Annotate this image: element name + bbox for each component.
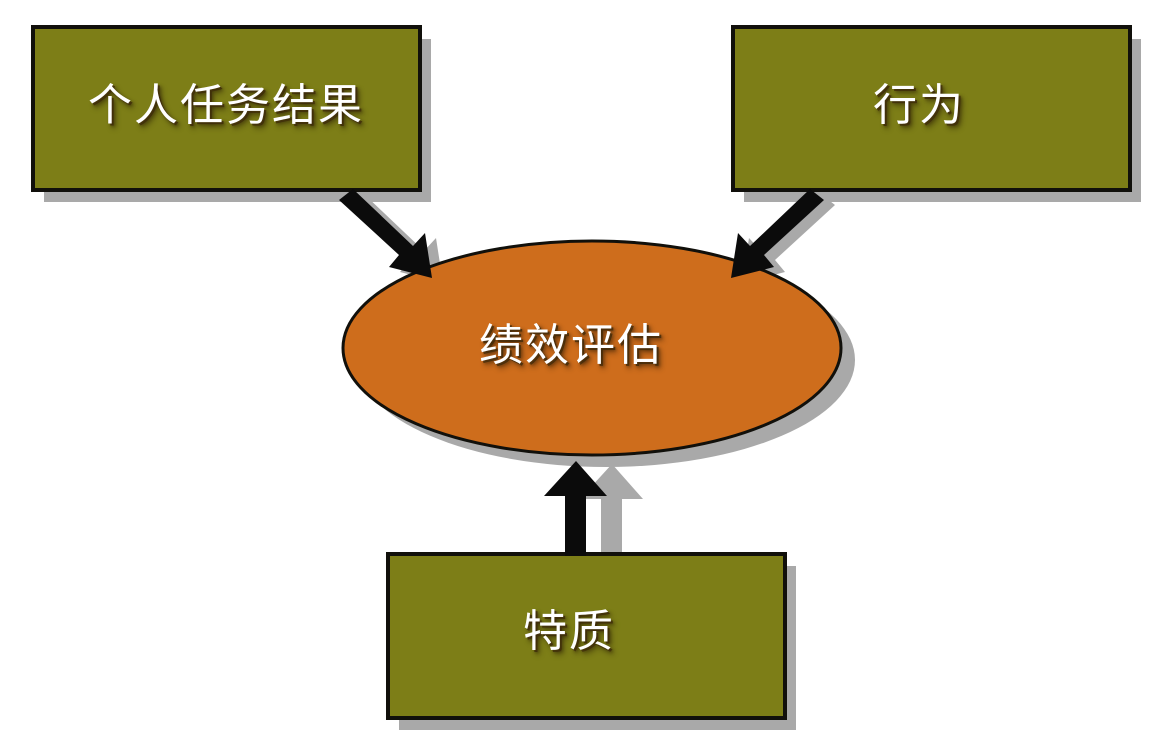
node-box-behavior[interactable] bbox=[733, 27, 1130, 190]
node-shape-layer bbox=[33, 27, 1130, 718]
node-box-traits[interactable] bbox=[388, 554, 785, 718]
diagram-shapes bbox=[0, 0, 1176, 744]
diagram-canvas: 个人任务结果 行为 特质 绩效评估 bbox=[0, 0, 1176, 744]
arrow-individual-task-results-to-performance-appraisal[interactable] bbox=[339, 189, 432, 278]
node-box-individual-task-results[interactable] bbox=[33, 27, 420, 190]
arrow-traits-to-performance-appraisal[interactable] bbox=[544, 461, 607, 556]
